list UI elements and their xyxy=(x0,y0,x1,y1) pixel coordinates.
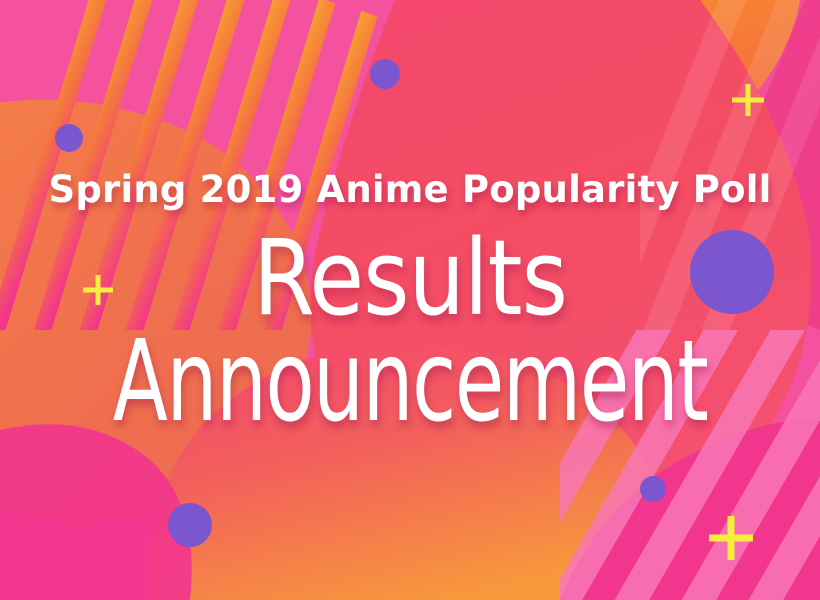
purple-dot-large-right xyxy=(690,230,774,314)
poster-canvas: Spring 2019 Anime Popularity Poll Result… xyxy=(0,0,820,600)
purple-dot-top-center xyxy=(370,59,400,89)
background-artwork xyxy=(0,0,820,600)
purple-dot-bottom-right xyxy=(640,476,666,502)
purple-dot-top-left xyxy=(55,124,83,152)
purple-dot-bottom-left xyxy=(168,503,212,547)
